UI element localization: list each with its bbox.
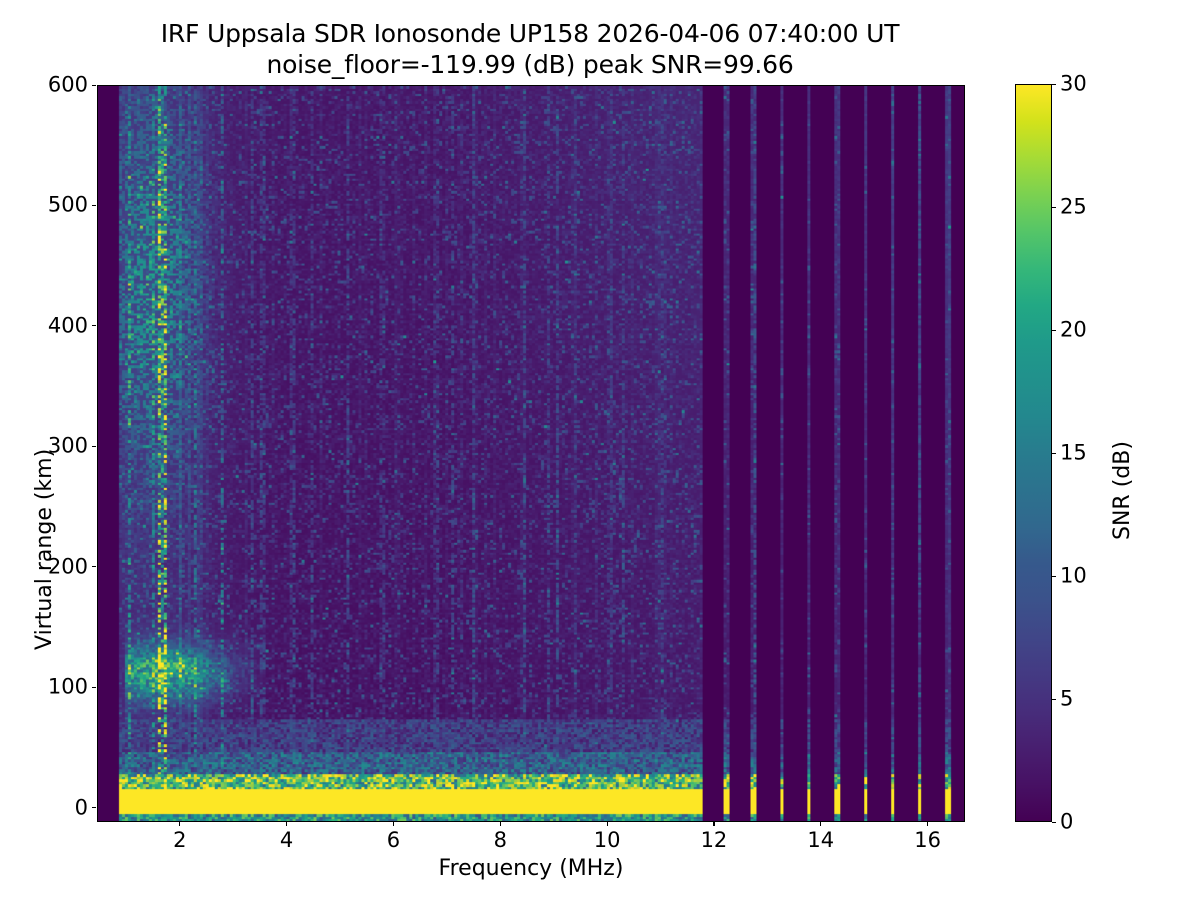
x-axis-tick-label: 2 [173, 830, 186, 851]
colorbar-tick-label: 10 [1060, 566, 1087, 587]
snr-colorbar [1015, 84, 1052, 822]
colorbar-tick-label: 0 [1060, 812, 1073, 833]
x-axis-tick-label: 4 [280, 830, 293, 851]
title-line-1: IRF Uppsala SDR Ionosonde UP158 2026-04-… [0, 18, 1060, 49]
y-axis-tick-mark [92, 446, 96, 447]
colorbar-tick-label: 25 [1060, 197, 1087, 218]
x-axis-tick-mark [393, 822, 394, 826]
colorbar-tick-label: 5 [1060, 689, 1073, 710]
colorbar-tick-mark [1052, 822, 1056, 823]
ionogram-heatmap-canvas [98, 86, 964, 821]
y-axis-label: Virtual range (km) [32, 449, 57, 650]
colorbar-tick-mark [1052, 207, 1056, 208]
y-axis-tick-mark [92, 687, 96, 688]
colorbar-tick-label: 30 [1060, 74, 1087, 95]
figure-title: IRF Uppsala SDR Ionosonde UP158 2026-04-… [0, 18, 1060, 80]
y-axis-tick-mark [92, 205, 96, 206]
y-axis-tick-label: 100 [48, 677, 88, 698]
x-axis-tick-mark [179, 822, 180, 826]
colorbar-tick-mark [1052, 84, 1056, 85]
y-axis-tick-label: 500 [48, 195, 88, 216]
y-axis-tick-mark [92, 566, 96, 567]
x-axis-tick-label: 6 [387, 830, 400, 851]
colorbar-tick-mark [1052, 453, 1056, 454]
colorbar-tick-mark [1052, 576, 1056, 577]
colorbar-tick-label: 15 [1060, 443, 1087, 464]
x-axis-tick-mark [286, 822, 287, 826]
ionogram-figure: IRF Uppsala SDR Ionosonde UP158 2026-04-… [0, 0, 1200, 900]
colorbar-label: SNR (dB) [1110, 441, 1135, 540]
ionogram-plot-area [97, 85, 965, 822]
colorbar-tick-label: 20 [1060, 320, 1087, 341]
x-axis-tick-label: 8 [494, 830, 507, 851]
y-axis-tick-mark [92, 85, 96, 86]
x-axis-tick-mark [927, 822, 928, 826]
x-axis-tick-mark [607, 822, 608, 826]
y-axis-tick-label: 400 [48, 315, 88, 336]
x-axis-tick-label: 16 [914, 830, 941, 851]
y-axis-tick-label: 600 [48, 75, 88, 96]
colorbar-tick-mark [1052, 330, 1056, 331]
title-line-2: noise_floor=-119.99 (dB) peak SNR=99.66 [0, 49, 1060, 80]
x-axis-tick-label: 14 [807, 830, 834, 851]
y-axis-tick-label: 200 [48, 556, 88, 577]
x-axis-tick-mark [500, 822, 501, 826]
y-axis-tick-label: 0 [75, 797, 88, 818]
x-axis-tick-mark [713, 822, 714, 826]
y-axis-tick-mark [92, 807, 96, 808]
y-axis-tick-mark [92, 325, 96, 326]
x-axis-label: Frequency (MHz) [97, 856, 965, 881]
x-axis-tick-mark [820, 822, 821, 826]
x-axis-tick-label: 12 [701, 830, 728, 851]
x-axis-tick-label: 10 [594, 830, 621, 851]
colorbar-tick-mark [1052, 699, 1056, 700]
y-axis-tick-label: 300 [48, 436, 88, 457]
